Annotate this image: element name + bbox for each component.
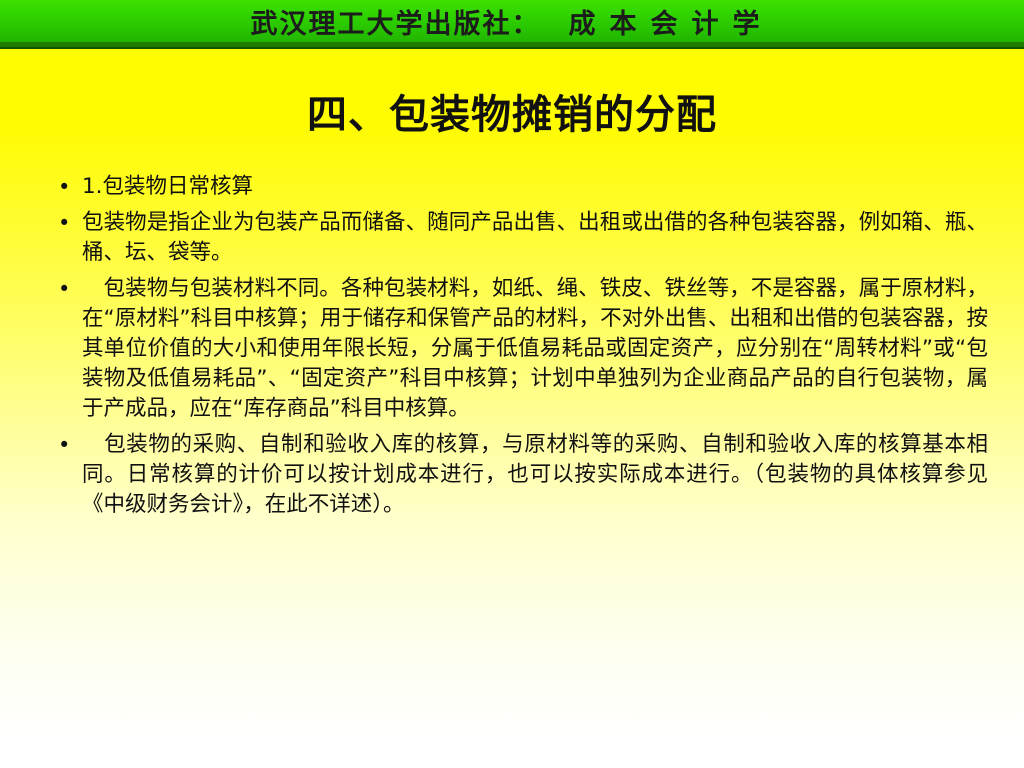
- bottom-fade: [0, 708, 1024, 768]
- page-title: 四、包装物摊销的分配: [0, 82, 1024, 140]
- bullet-text: 包装物的采购、自制和验收入库的核算，与原材料等的采购、自制和验收入库的核算基本相…: [82, 430, 988, 520]
- bullet-marker: •: [48, 172, 82, 202]
- bullet-marker: •: [48, 274, 82, 304]
- bullet-marker: •: [48, 430, 82, 460]
- bullet-text: 1.包装物日常核算: [82, 172, 988, 202]
- bullet-text: 包装物是指企业为包装产品而储备、随同产品出售、出租或出借的各种包装容器，例如箱、…: [82, 208, 988, 268]
- list-item: • 1.包装物日常核算: [48, 172, 988, 202]
- banner-subject: 成本会计学: [569, 9, 774, 40]
- bullet-text: 包装物与包装材料不同。各种包装材料，如纸、绳、铁皮、铁丝等，不是容器，属于原材料…: [82, 274, 988, 424]
- slide: 武汉理工大学出版社：成本会计学 四、包装物摊销的分配 • 1.包装物日常核算 •…: [0, 0, 1024, 768]
- list-item: • 包装物与包装材料不同。各种包装材料，如纸、绳、铁皮、铁丝等，不是容器，属于原…: [48, 274, 988, 424]
- header-banner: 武汉理工大学出版社：成本会计学: [0, 0, 1024, 42]
- banner-divider-shadow: [0, 47, 1024, 49]
- list-item: • 包装物是指企业为包装产品而储备、随同产品出售、出租或出借的各种包装容器，例如…: [48, 208, 988, 268]
- bullet-list: • 1.包装物日常核算 • 包装物是指企业为包装产品而储备、随同产品出售、出租或…: [48, 172, 988, 526]
- banner-title: 武汉理工大学出版社：成本会计学: [0, 2, 1024, 41]
- bullet-marker: •: [48, 208, 82, 238]
- list-item: • 包装物的采购、自制和验收入库的核算，与原材料等的采购、自制和验收入库的核算基…: [48, 430, 988, 520]
- banner-publisher: 武汉理工大学出版社：: [251, 9, 541, 40]
